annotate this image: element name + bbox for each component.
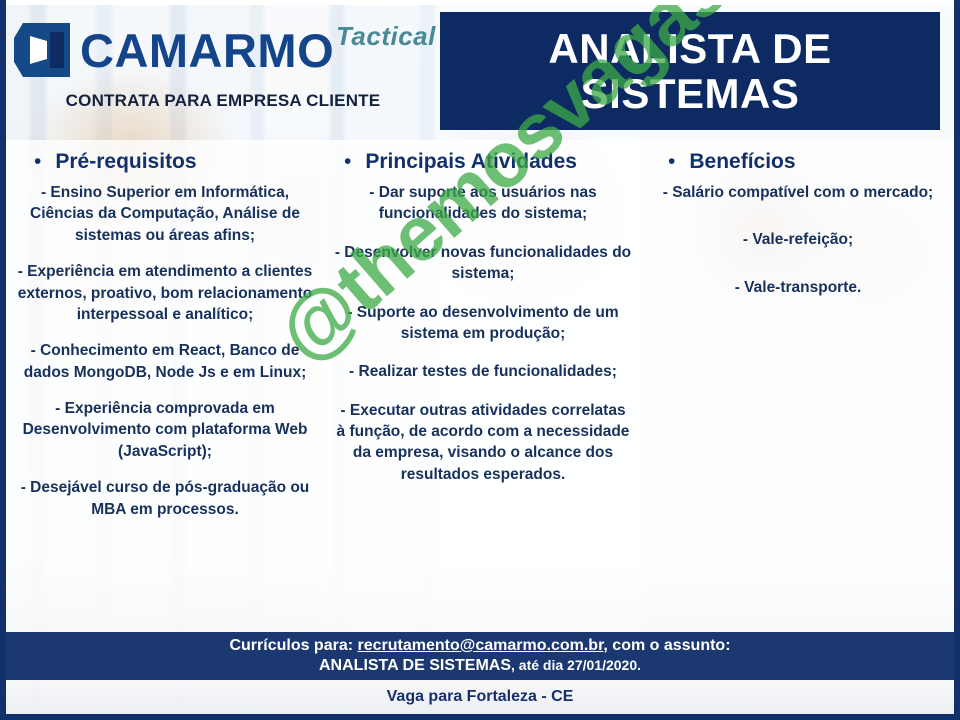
- poster-header: CAMARMO Tactical CONTRATA PARA EMPRESA C…: [6, 5, 440, 140]
- footer-prefix: Currículos para:: [229, 637, 357, 654]
- frame-left: [0, 0, 6, 720]
- camarmo-hexagon-logo-icon: [14, 23, 70, 77]
- job-posting-poster: CAMARMO Tactical CONTRATA PARA EMPRESA C…: [0, 0, 960, 720]
- list-item: - Vale-transporte.: [652, 277, 944, 298]
- column-heading-prerequisites: • Pré-requisitos: [16, 150, 314, 174]
- column-heading-text: Benefícios: [689, 150, 795, 174]
- column-prerequisites: • Pré-requisitos - Ensino Superior em In…: [6, 140, 324, 632]
- list-item: - Vale-refeição;: [652, 229, 944, 250]
- footer-subject-line: ANALISTA DE SISTEMAS, até dia 27/01/2020…: [319, 656, 641, 676]
- content-columns: • Pré-requisitos - Ensino Superior em In…: [6, 140, 954, 632]
- bullet-icon: •: [344, 151, 351, 172]
- job-title-line-1: ANALISTA DE: [548, 26, 831, 71]
- frame-top: [0, 0, 960, 5]
- bullet-icon: •: [668, 151, 675, 172]
- list-item: - Suporte ao desenvolvimento de um siste…: [334, 302, 632, 345]
- job-title-line-2: SISTEMAS: [581, 71, 800, 116]
- bullet-icon: •: [34, 151, 41, 172]
- list-item: - Conhecimento em React, Banco de dados …: [16, 340, 314, 383]
- footer-deadline: , até dia 27/01/2020.: [511, 657, 641, 673]
- list-item: - Ensino Superior em Informática, Ciênci…: [16, 182, 314, 246]
- brand-name: CAMARMO: [80, 27, 334, 74]
- list-item: - Experiência comprovada em Desenvolvime…: [16, 398, 314, 462]
- column-heading-benefits: • Benefícios: [652, 150, 944, 174]
- frame-right: [954, 0, 960, 720]
- column-heading-text: Principais Atividades: [365, 150, 577, 174]
- column-heading-text: Pré-requisitos: [55, 150, 196, 174]
- footer-location-strip: Vaga para Fortaleza - CE: [6, 680, 954, 714]
- list-item: - Executar outras atividades correlatas …: [334, 400, 632, 486]
- hexagon-inner-bar: [50, 32, 64, 68]
- footer-contact-bar: Currículos para: recrutamento@camarmo.co…: [6, 632, 954, 680]
- brand-logo: CAMARMO: [14, 23, 334, 77]
- list-item: - Salário compatível com o mercado;: [652, 182, 944, 203]
- list-item: - Realizar testes de funcionalidades;: [334, 361, 632, 382]
- footer-role: ANALISTA DE SISTEMAS: [319, 657, 511, 674]
- footer-email-line: Currículos para: recrutamento@camarmo.co…: [229, 636, 730, 656]
- footer-suffix: , com o assunto:: [603, 637, 730, 654]
- list-item: - Dar suporte aos usuários nas funcional…: [334, 182, 632, 225]
- list-item: - Experiência em atendimento a clientes …: [16, 261, 314, 325]
- contact-email[interactable]: recrutamento@camarmo.com.br: [358, 637, 604, 654]
- column-heading-activities: • Principais Atividades: [334, 150, 632, 174]
- column-benefits: • Benefícios - Salário compatível com o …: [642, 140, 954, 632]
- header-subtitle: CONTRATA PARA EMPRESA CLIENTE: [6, 91, 440, 111]
- job-title-banner: ANALISTA DE SISTEMAS: [440, 12, 940, 130]
- list-item: - Desenvolver novas funcionalidades do s…: [334, 242, 632, 285]
- brand-tactical-label: Tactical: [336, 21, 436, 52]
- job-location: Vaga para Fortaleza - CE: [387, 688, 574, 706]
- list-item: - Desejável curso de pós-graduação ou MB…: [16, 477, 314, 520]
- column-activities: • Principais Atividades - Dar suporte ao…: [324, 140, 642, 632]
- frame-bottom: [0, 714, 960, 720]
